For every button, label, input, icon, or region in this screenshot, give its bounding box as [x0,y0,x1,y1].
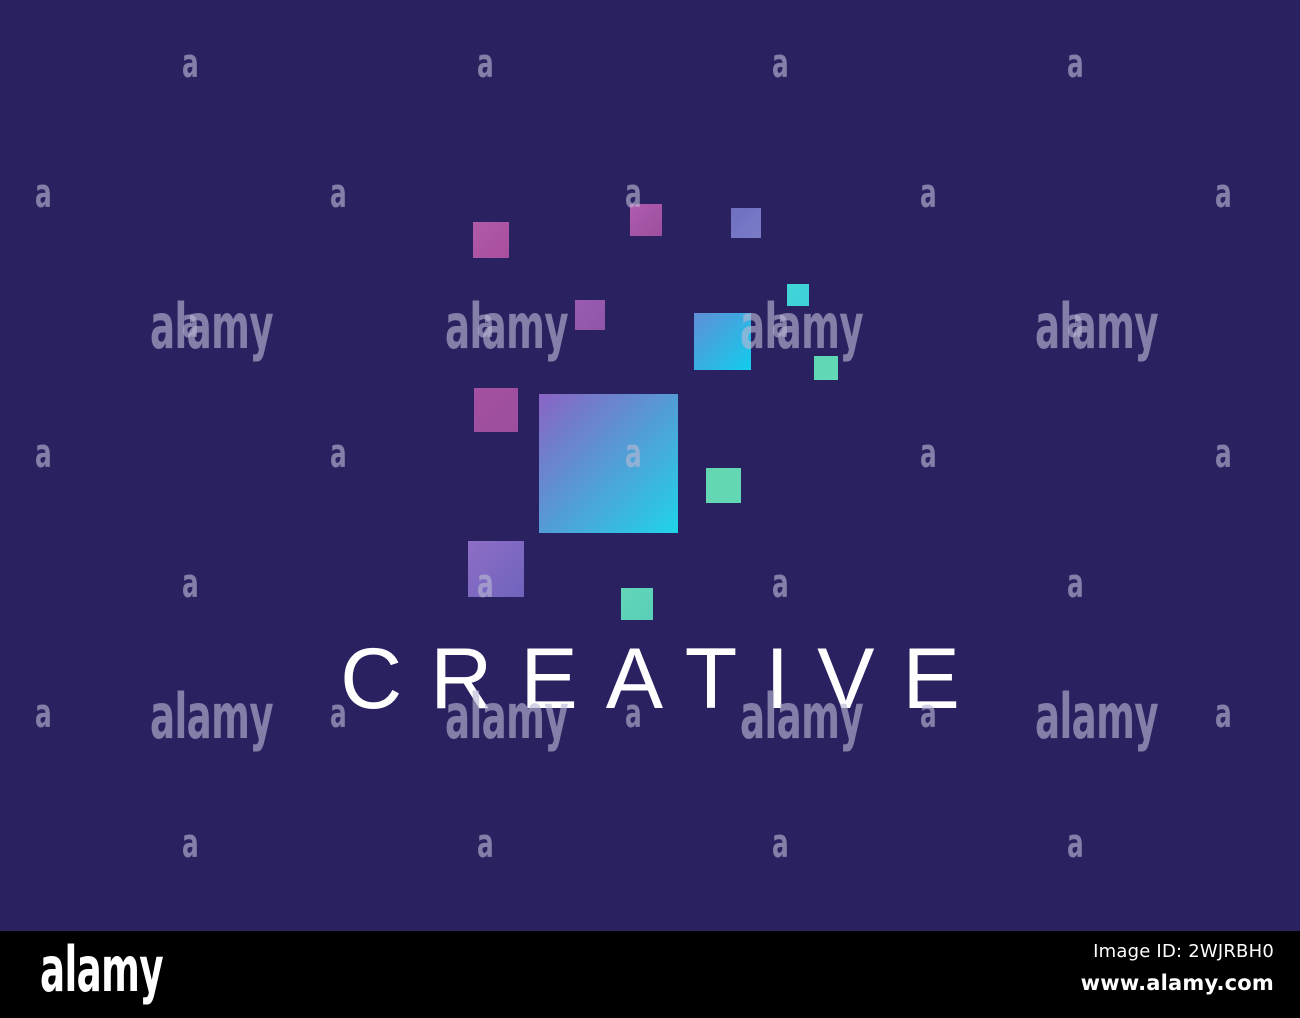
watermark-letter-a: a [772,824,789,864]
square-cyan-tiny-upper-right [787,284,809,306]
watermark-letter-a: a [35,434,52,474]
square-mint-small-bottom [621,588,653,620]
watermark-letter-a: a [477,44,494,84]
watermark-letter-a: a [1215,174,1232,214]
alamy-logo: alamy [40,939,163,1001]
watermark-letter-a: a [35,174,52,214]
square-magenta-small-upper-left [473,222,509,258]
watermark-wordmark-alamy: alamy [445,296,568,358]
watermark-letter-a: a [182,824,199,864]
square-mint-tiny-right [814,356,838,380]
website-url-label: www.alamy.com [1081,971,1274,995]
square-violet-small-mid-left [575,300,605,330]
watermark-letter-a: a [772,304,789,344]
screenshot-root: CREATIVE aaaaaaaaaaaaaaaaaaaaaaaaaaaaaaa… [0,0,1300,1018]
square-violet-medium-lower-left [468,541,524,597]
watermark-letter-a: a [920,434,937,474]
watermark-wordmark-alamy: alamy [1035,296,1158,358]
watermark-letter-a: a [182,304,199,344]
page-title: CREATIVE [0,636,1300,722]
footer-bar: alamy Image ID: 2WJRBH0 www.alamy.com [0,931,1300,1018]
watermark-letter-a: a [772,44,789,84]
artwork-canvas: CREATIVE aaaaaaaaaaaaaaaaaaaaaaaaaaaaaaa… [0,0,1300,931]
watermark-letter-a: a [1215,434,1232,474]
square-hero-gradient-center [539,394,678,533]
watermark-letter-a: a [477,304,494,344]
watermark-letter-a: a [1067,824,1084,864]
watermark-letter-a: a [1067,44,1084,84]
watermark-letter-a: a [182,44,199,84]
watermark-letter-a: a [1067,564,1084,604]
watermark-letter-a: a [477,824,494,864]
watermark-letter-a: a [1067,304,1084,344]
watermark-letter-a: a [772,564,789,604]
image-id-label: Image ID: 2WJRBH0 [1093,941,1274,962]
watermark-letter-a: a [330,434,347,474]
square-blue-medium-right [694,313,751,370]
watermark-letter-a: a [182,564,199,604]
watermark-wordmark-alamy: alamy [150,296,273,358]
watermark-letter-a: a [330,174,347,214]
square-magenta-medium-left [474,388,518,432]
square-magenta-small-top-center [630,204,662,236]
watermark-letter-a: a [920,174,937,214]
square-periwinkle-small-top-right [731,208,761,238]
square-mint-small-center-right [706,468,741,503]
